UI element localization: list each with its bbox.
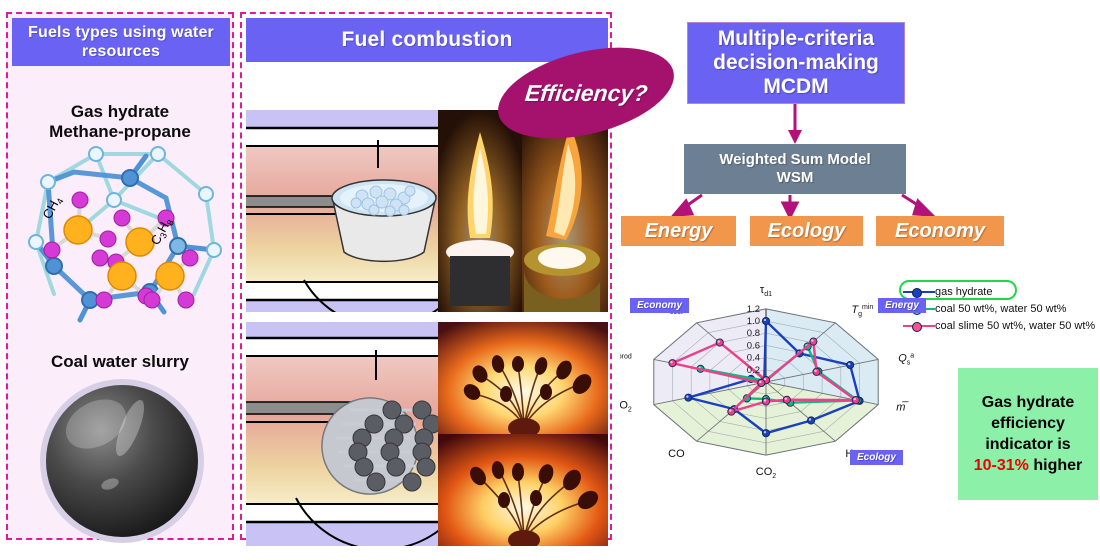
radar-axis-label-tau_d1: τd1 xyxy=(760,284,772,298)
radar-axis-label-CO2: CO2 xyxy=(756,466,777,480)
flame-photos-multi xyxy=(438,322,608,546)
legend-item-coal-slime[interactable]: coal slime 50 wt%, water 50 wt% xyxy=(903,317,1099,334)
conclusion-value: 10-31% xyxy=(974,457,1029,474)
radar-tick-labels: 0.20.40.60.81.01.2 xyxy=(747,304,760,376)
multi-droplet-combustion-figure xyxy=(246,322,608,546)
economy-criterion-box: Economy xyxy=(876,216,1004,246)
wsm-box: Weighted Sum Model WSM xyxy=(684,144,906,194)
crucible-with-hydrate xyxy=(332,180,436,261)
legend-key-gas-hydrate xyxy=(903,286,935,298)
mcdm-box: Multiple-criteria decision-making MCDM xyxy=(687,22,905,104)
flame-photos-single xyxy=(438,110,608,312)
radar-tick-0.6: 0.6 xyxy=(747,340,760,351)
single-droplet-combustion-figure xyxy=(246,110,608,312)
badge-energy: Energy xyxy=(878,298,926,313)
conclusion-line4-tail: higher xyxy=(1029,457,1082,474)
radar-axis-label-Qs_a: Qsa xyxy=(898,352,914,366)
coal-water-slurry-title: Coal water slurry xyxy=(8,352,232,372)
radar-axis-label-Tg_min: Tgmin xyxy=(851,304,873,318)
radar-axis-label-CO: CO xyxy=(668,448,685,460)
conclusion-line2: efficiency xyxy=(991,415,1065,432)
badge-economy: Economy xyxy=(630,298,689,313)
wsm-line2: WSM xyxy=(777,169,814,186)
efficiency-label: Efficiency? xyxy=(523,80,648,107)
radar-tick-0.4: 0.4 xyxy=(747,353,760,364)
conclusion-line1: Gas hydrate xyxy=(982,394,1074,411)
radar-tick-1.0: 1.0 xyxy=(747,316,760,327)
radar-axis-label-NOx_SO2: NOx/SO2 xyxy=(620,400,632,414)
mcdm-line1: Multiple-criteria xyxy=(718,27,874,50)
radar-legend: gas hydrate coal 50 wt%, water 50 wt% co… xyxy=(903,283,1099,334)
fuel-types-header: Fuels types using water resources xyxy=(12,18,230,66)
gas-hydrate-title: Gas hydrate Methane-propane xyxy=(8,102,232,142)
mcdm-line2: decision-making xyxy=(713,51,879,74)
wsm-line1: Weighted Sum Model xyxy=(719,151,870,168)
gas-hydrate-molecule-diagram: CH4 C3H8 xyxy=(18,142,230,332)
legend-item-coal-water[interactable]: coal 50 wt%, water 50 wt% xyxy=(903,300,1099,317)
coal-water-slurry-droplet xyxy=(34,376,214,546)
gas-hydrate-title-line2: Methane-propane xyxy=(49,122,191,141)
energy-criterion-box: Energy xyxy=(621,216,736,246)
radar-tick-0.8: 0.8 xyxy=(747,328,760,339)
graphical-abstract: Fuels types using water resources Gas hy… xyxy=(0,0,1100,560)
badge-ecology: Ecology xyxy=(850,450,903,465)
legend-key-coal-slime xyxy=(903,320,935,332)
radar-tick-0.2: 0.2 xyxy=(747,365,760,376)
legend-label-coal-slime: coal slime 50 wt%, water 50 wt% xyxy=(935,320,1095,332)
fuel-combustion-header: Fuel combustion xyxy=(246,18,608,62)
mcdm-line3: MCDM xyxy=(763,75,828,98)
fuel-types-panel: Fuels types using water resources Gas hy… xyxy=(6,12,234,540)
legend-label-coal-water: coal 50 wt%, water 50 wt% xyxy=(935,303,1066,315)
arrow-mcdm-to-wsm xyxy=(780,104,810,146)
gas-hydrate-title-line1: Gas hydrate xyxy=(71,102,169,121)
conclusion-line3: indicator is xyxy=(985,436,1070,453)
ecology-criterion-box: Ecology xyxy=(750,216,863,246)
conclusion-box: Gas hydrate efficiency indicator is 10-3… xyxy=(958,368,1098,500)
radar-tick-1.2: 1.2 xyxy=(747,304,760,315)
radar-axis-label-m_bar: m̅ xyxy=(896,402,909,414)
radar-axis-label-S_prod: Sprod xyxy=(620,346,632,360)
